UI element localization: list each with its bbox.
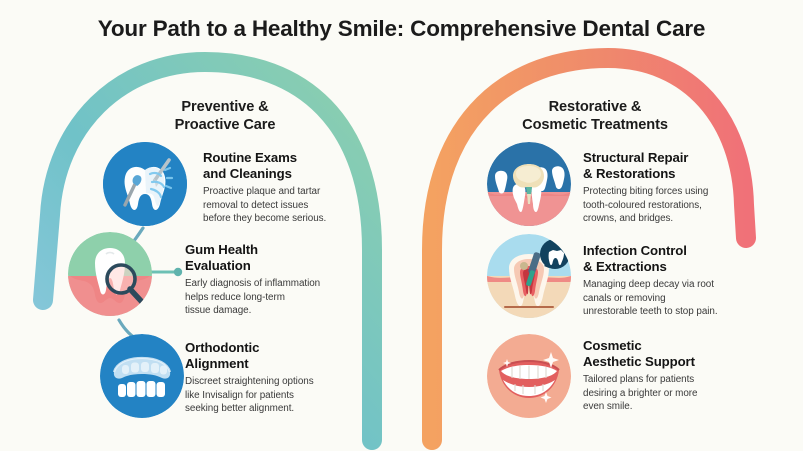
title-line2: Alignment (185, 356, 355, 372)
desc-line2: like Invisalign for patients (185, 389, 355, 402)
title-line2: Aesthetic Support (583, 354, 763, 370)
column-heading-preventive-line2: Proactive Care (130, 116, 320, 134)
list-item-routine-exams-desc: Proactive plaque and tartar removal to d… (203, 185, 363, 225)
list-item-orthodontic-text: Orthodontic Alignment Discreet straighte… (185, 340, 355, 415)
clear-aligner-icon (100, 334, 184, 418)
gum-magnifier-icon (68, 232, 152, 316)
list-item-structural-repair-text: Structural Repair & Restorations Protect… (583, 150, 758, 225)
title-line1: Structural Repair (583, 150, 758, 166)
list-item-routine-exams-title: Routine Exams and Cleanings (203, 150, 363, 182)
column-heading-restorative: Restorative & Cosmetic Treatments (470, 98, 720, 134)
list-item-infection-control-text: Infection Control & Extractions Managing… (583, 243, 763, 318)
gum-node-dot (174, 268, 182, 276)
desc-line2: canals or removing (583, 292, 763, 305)
desc-line2: helps reduce long-term (185, 291, 355, 304)
desc-line3: tissue damage. (185, 304, 355, 317)
desc-line2: desiring a brighter or more (583, 387, 763, 400)
list-item-cosmetic-support-title: Cosmetic Aesthetic Support (583, 338, 763, 370)
title-line1: Routine Exams (203, 150, 363, 166)
desc-line3: unrestorable teeth to stop pain. (583, 305, 763, 318)
root-canal-icon (487, 234, 571, 318)
desc-line1: Managing deep decay via root (583, 278, 763, 291)
list-item-cosmetic-support-desc: Tailored plans for patients desiring a b… (583, 373, 763, 413)
desc-line3: seeking better alignment. (185, 402, 355, 415)
tooth-cleaning-icon (103, 142, 187, 226)
bright-smile-icon (487, 334, 571, 418)
title-line2: & Extractions (583, 259, 763, 275)
desc-line1: Early diagnosis of inflammation (185, 277, 355, 290)
list-item-gum-health-text: Gum Health Evaluation Early diagnosis of… (185, 242, 355, 317)
list-item-cosmetic-support-text: Cosmetic Aesthetic Support Tailored plan… (583, 338, 763, 413)
desc-line2: tooth-coloured restorations, (583, 199, 758, 212)
list-item-structural-repair-title: Structural Repair & Restorations (583, 150, 758, 182)
title-line2: & Restorations (583, 166, 758, 182)
desc-line3: even smile. (583, 400, 763, 413)
desc-line1: Discreet straightening options (185, 375, 355, 388)
desc-line1: Tailored plans for patients (583, 373, 763, 386)
desc-line3: crowns, and bridges. (583, 212, 758, 225)
dental-care-infographic: Your Path to a Healthy Smile: Comprehens… (0, 0, 803, 451)
title-line1: Orthodontic (185, 340, 355, 356)
column-heading-restorative-line1: Restorative & (470, 98, 720, 116)
column-heading-preventive: Preventive & Proactive Care (130, 98, 320, 134)
title-line1: Infection Control (583, 243, 763, 259)
list-item-routine-exams-text: Routine Exams and Cleanings Proactive pl… (203, 150, 363, 225)
column-heading-preventive-line1: Preventive & (130, 98, 320, 116)
desc-line2: removal to detect issues (203, 199, 363, 212)
title-line2: and Cleanings (203, 166, 363, 182)
title-line2: Evaluation (185, 258, 355, 274)
desc-line1: Proactive plaque and tartar (203, 185, 363, 198)
title-line1: Gum Health (185, 242, 355, 258)
list-item-infection-control-title: Infection Control & Extractions (583, 243, 763, 275)
list-item-orthodontic-desc: Discreet straightening options like Invi… (185, 375, 355, 415)
column-heading-restorative-line2: Cosmetic Treatments (470, 116, 720, 134)
dental-crown-icon (487, 142, 571, 226)
list-item-gum-health-desc: Early diagnosis of inflammation helps re… (185, 277, 355, 317)
desc-line1: Protecting biting forces using (583, 185, 758, 198)
title-line1: Cosmetic (583, 338, 763, 354)
list-item-gum-health-title: Gum Health Evaluation (185, 242, 355, 274)
list-item-infection-control-desc: Managing deep decay via root canals or r… (583, 278, 763, 318)
list-item-orthodontic-title: Orthodontic Alignment (185, 340, 355, 372)
list-item-structural-repair-desc: Protecting biting forces using tooth-col… (583, 185, 758, 225)
desc-line3: before they become serious. (203, 212, 363, 225)
page-title: Your Path to a Healthy Smile: Comprehens… (0, 16, 803, 42)
